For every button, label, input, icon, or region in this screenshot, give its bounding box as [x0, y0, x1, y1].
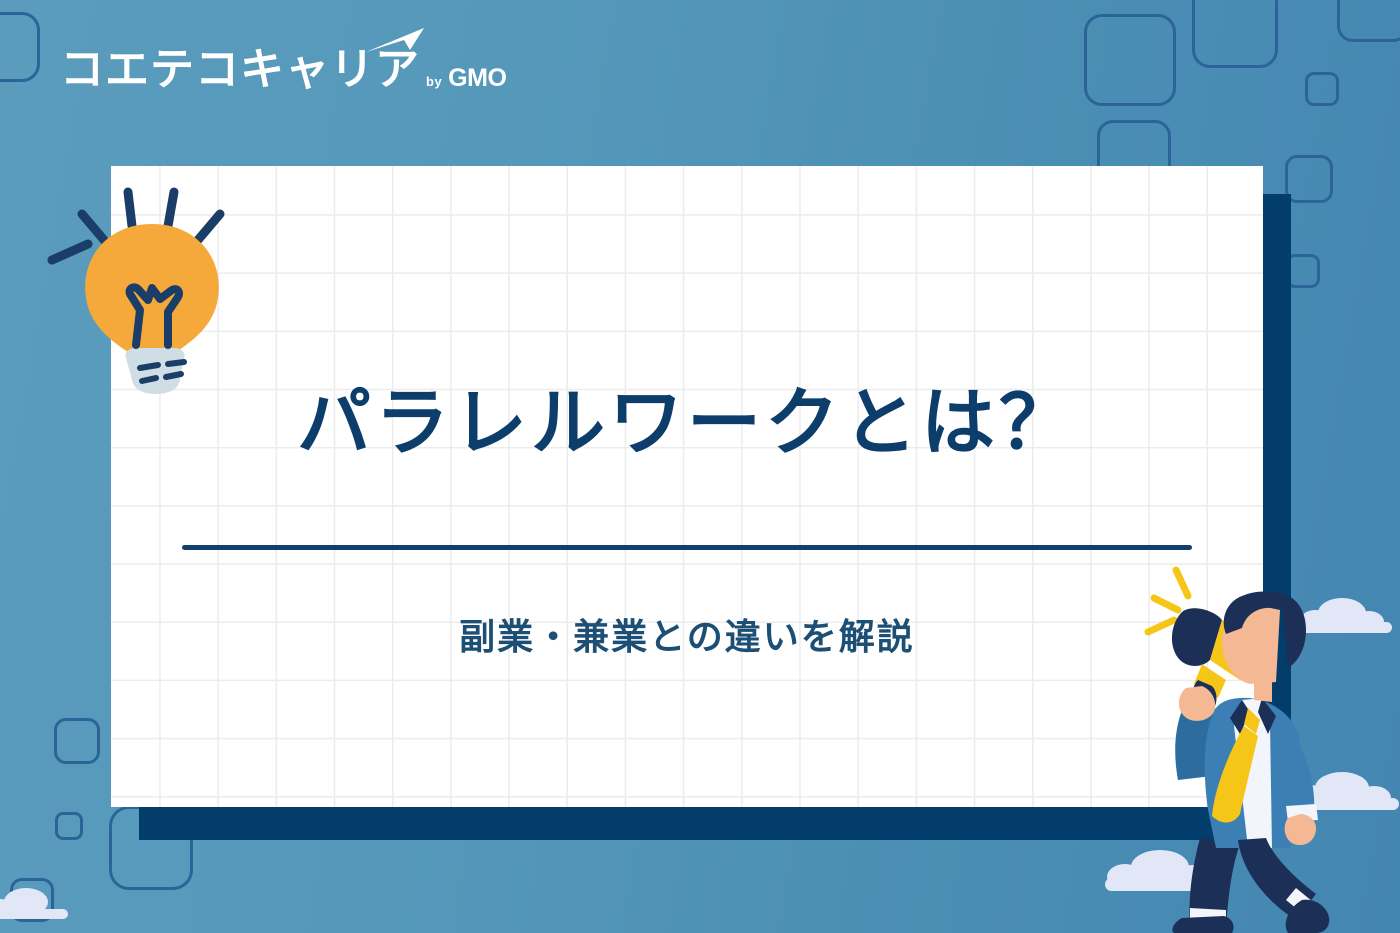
brand-logo[interactable]: コエテコキャリア by GMO [60, 48, 506, 92]
deco-square [0, 12, 40, 82]
hero-banner: コエテコキャリア by GMO パラレルワークとは？ 副業・兼業との違いを解説 [0, 0, 1400, 933]
deco-square [1285, 155, 1333, 203]
arrow-swoosh-icon [364, 26, 428, 56]
hero-card [111, 166, 1263, 807]
brand-logo-gmo: GMO [448, 66, 506, 92]
deco-square [1337, 0, 1400, 42]
deco-square [54, 718, 100, 764]
brand-logo-by: by [426, 74, 442, 92]
cloud-icon [0, 888, 70, 920]
brand-logo-text: コエテコキャリア [60, 48, 420, 92]
deco-square [55, 812, 83, 840]
deco-square [1305, 72, 1339, 106]
deco-square [1084, 14, 1176, 106]
lightbulb-icon [44, 182, 264, 402]
deco-square [1192, 0, 1278, 68]
businessman-with-megaphone-icon [1130, 548, 1390, 933]
deco-square [1286, 254, 1320, 288]
